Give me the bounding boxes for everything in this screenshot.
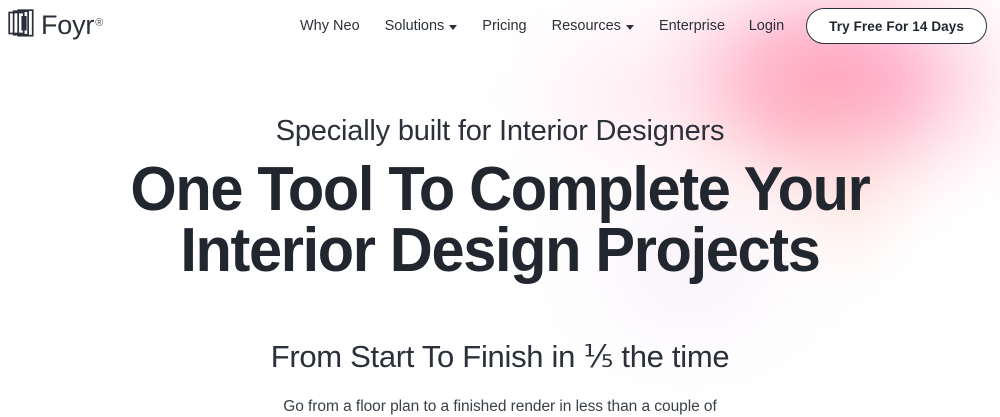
chevron-down-icon xyxy=(449,25,457,30)
nav-item-resources[interactable]: Resources xyxy=(552,16,634,36)
headline-line-1: One Tool To Complete Your xyxy=(130,159,869,220)
headline-line-2: Interior Design Projects xyxy=(130,220,869,281)
login-link[interactable]: Login xyxy=(749,18,784,34)
nav-item-label: Enterprise xyxy=(659,16,725,36)
page-title: One Tool To Complete Your Interior Desig… xyxy=(130,159,869,281)
nav-item-label: Resources xyxy=(552,16,621,36)
nav-item-solutions[interactable]: Solutions xyxy=(385,16,458,36)
hero-eyebrow: Specially built for Interior Designers xyxy=(276,113,725,149)
site-header: Foyr® Why Neo Solutions Pricing Resource… xyxy=(0,0,1000,52)
nav-item-pricing[interactable]: Pricing xyxy=(482,16,526,36)
main-navigation: Why Neo Solutions Pricing Resources Ente… xyxy=(300,16,725,36)
hero-description: Go from a floor plan to a finished rende… xyxy=(265,394,735,417)
gradient-blob-peach-lower xyxy=(790,90,1000,417)
hero-subheadline: From Start To Finish in ⅕ the time xyxy=(271,339,730,375)
brand-name: Foyr® xyxy=(41,6,103,40)
trademark-symbol: ® xyxy=(95,17,103,29)
brand-logo[interactable]: Foyr® xyxy=(8,7,103,41)
hero-description-line-1: Go from a floor plan to a finished rende… xyxy=(283,398,717,415)
landing-page: Foyr® Why Neo Solutions Pricing Resource… xyxy=(0,0,1000,417)
gradient-blob-peach xyxy=(640,0,1000,370)
gradient-blob-lavender xyxy=(500,120,880,417)
header-actions: Login Try Free For 14 Days xyxy=(749,8,987,44)
nav-item-enterprise[interactable]: Enterprise xyxy=(659,16,725,36)
nav-item-label: Pricing xyxy=(482,16,526,36)
background-gradient xyxy=(0,0,1000,417)
nav-item-label: Solutions xyxy=(385,16,445,36)
logo-overlapping-rectangles-icon xyxy=(8,9,36,39)
chevron-down-icon xyxy=(626,25,634,30)
nav-item-why-neo[interactable]: Why Neo xyxy=(300,16,360,36)
hero-section: Specially built for Interior Designers O… xyxy=(0,0,1000,417)
nav-item-label: Why Neo xyxy=(300,16,360,36)
try-free-button[interactable]: Try Free For 14 Days xyxy=(806,8,987,44)
